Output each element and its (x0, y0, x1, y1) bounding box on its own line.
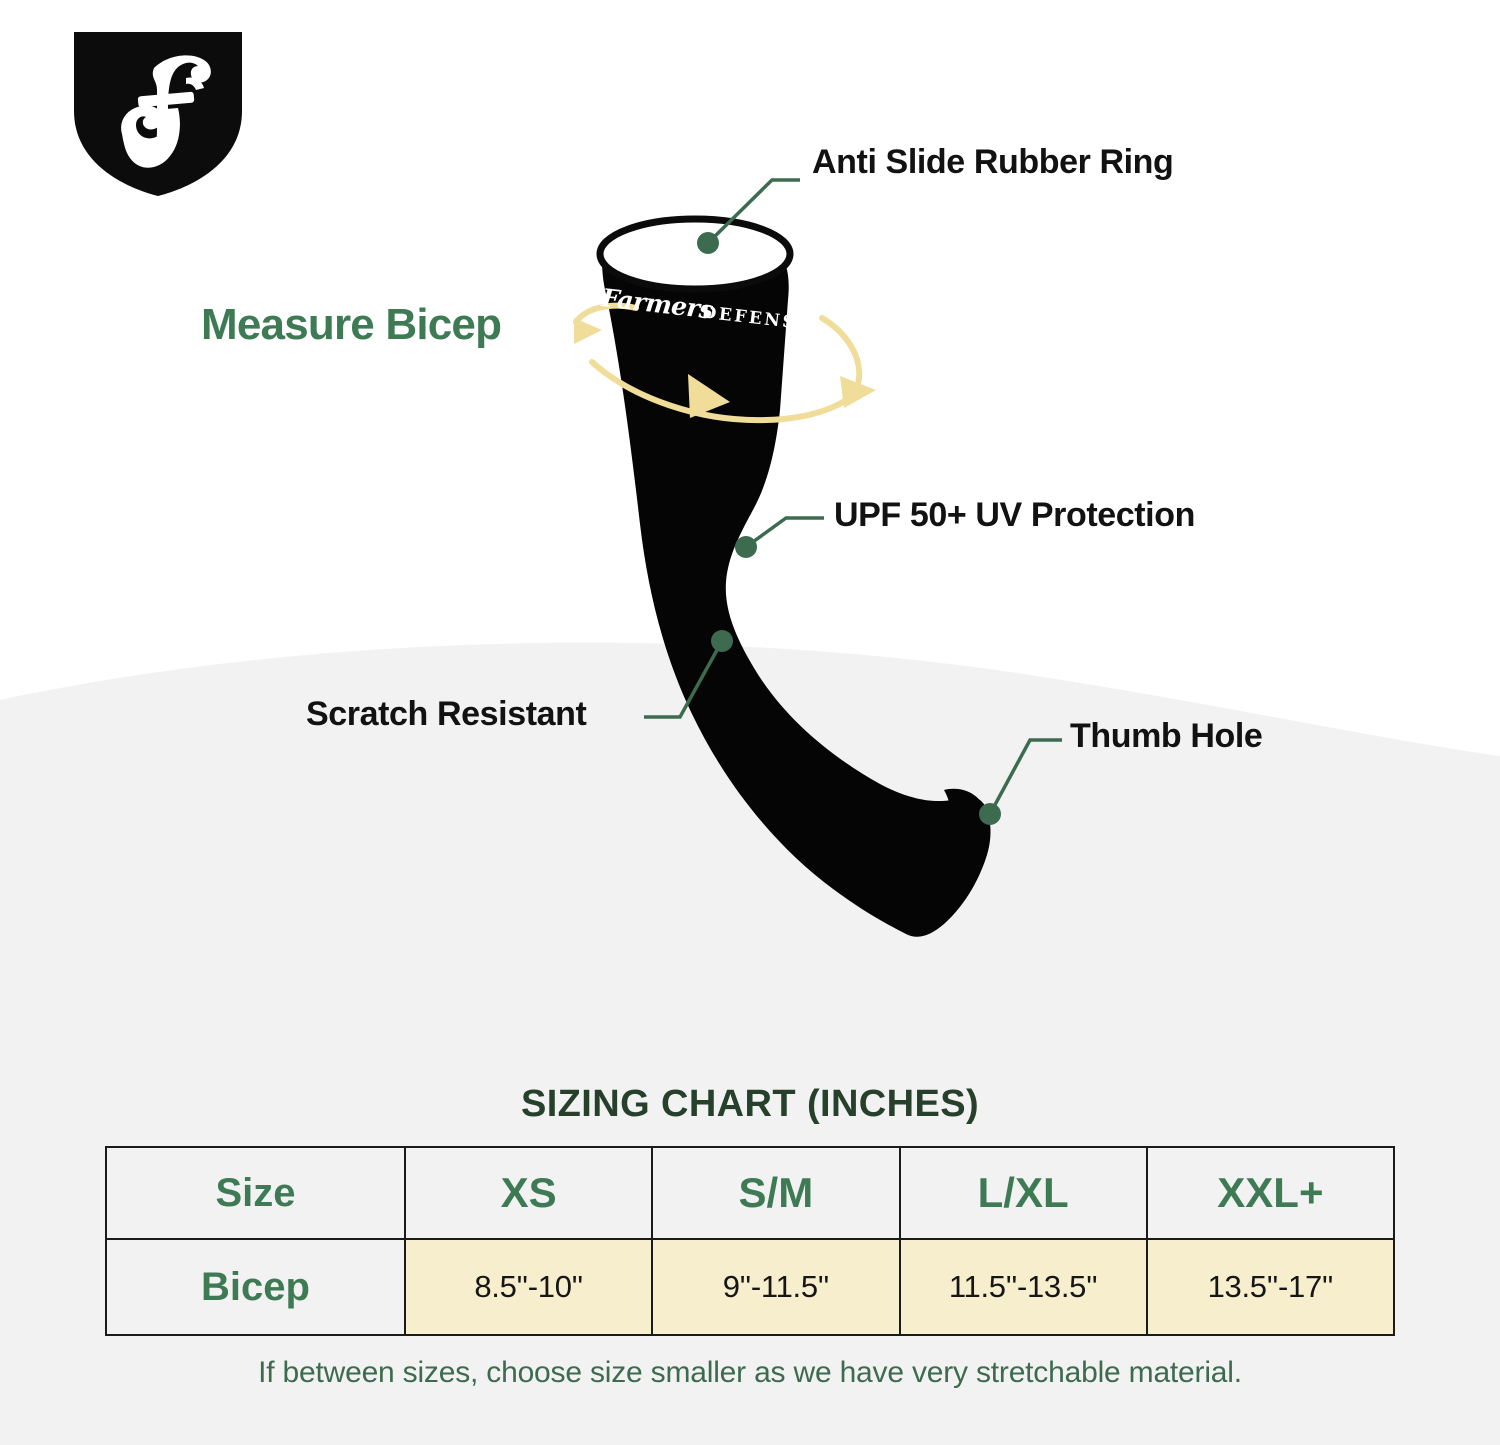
measure-bicep-label: Measure Bicep (201, 303, 501, 347)
infographic-page: Farmers DEFENSE Anti Slide Rubber Ring U… (0, 0, 1500, 1445)
cell-bicep-xs: 8.5''-10'' (405, 1239, 652, 1335)
cell-bicep-sm: 9''-11.5'' (652, 1239, 899, 1335)
callout-label-scratch-resistant: Scratch Resistant (306, 697, 586, 731)
brand-logo-shield-icon (58, 16, 258, 208)
sizing-chart-title: SIZING CHART (INCHES) (0, 1083, 1500, 1126)
sizing-chart-note: If between sizes, choose size smaller as… (0, 1356, 1500, 1390)
header-cell-xs: XS (405, 1147, 652, 1239)
arm-sleeve-illustration (540, 190, 1080, 980)
callout-label-upf-uv-protection: UPF 50+ UV Protection (834, 498, 1195, 532)
header-cell-sm: S/M (652, 1147, 899, 1239)
cell-bicep-xxl: 13.5''-17'' (1147, 1239, 1394, 1335)
sizing-chart-table: Size XS S/M L/XL XXL+ Bicep 8.5''-10'' 9… (105, 1146, 1395, 1336)
table-header-row: Size XS S/M L/XL XXL+ (106, 1147, 1394, 1239)
cell-bicep-lxl: 11.5''-13.5'' (900, 1239, 1147, 1335)
callout-label-anti-slide-rubber-ring: Anti Slide Rubber Ring (812, 145, 1173, 179)
header-cell-lxl: L/XL (900, 1147, 1147, 1239)
header-cell-size: Size (106, 1147, 405, 1239)
header-cell-xxl: XXL+ (1147, 1147, 1394, 1239)
callout-label-thumb-hole: Thumb Hole (1070, 719, 1262, 753)
table-row-bicep: Bicep 8.5''-10'' 9''-11.5'' 11.5''-13.5'… (106, 1239, 1394, 1335)
row-label-bicep: Bicep (106, 1239, 405, 1335)
